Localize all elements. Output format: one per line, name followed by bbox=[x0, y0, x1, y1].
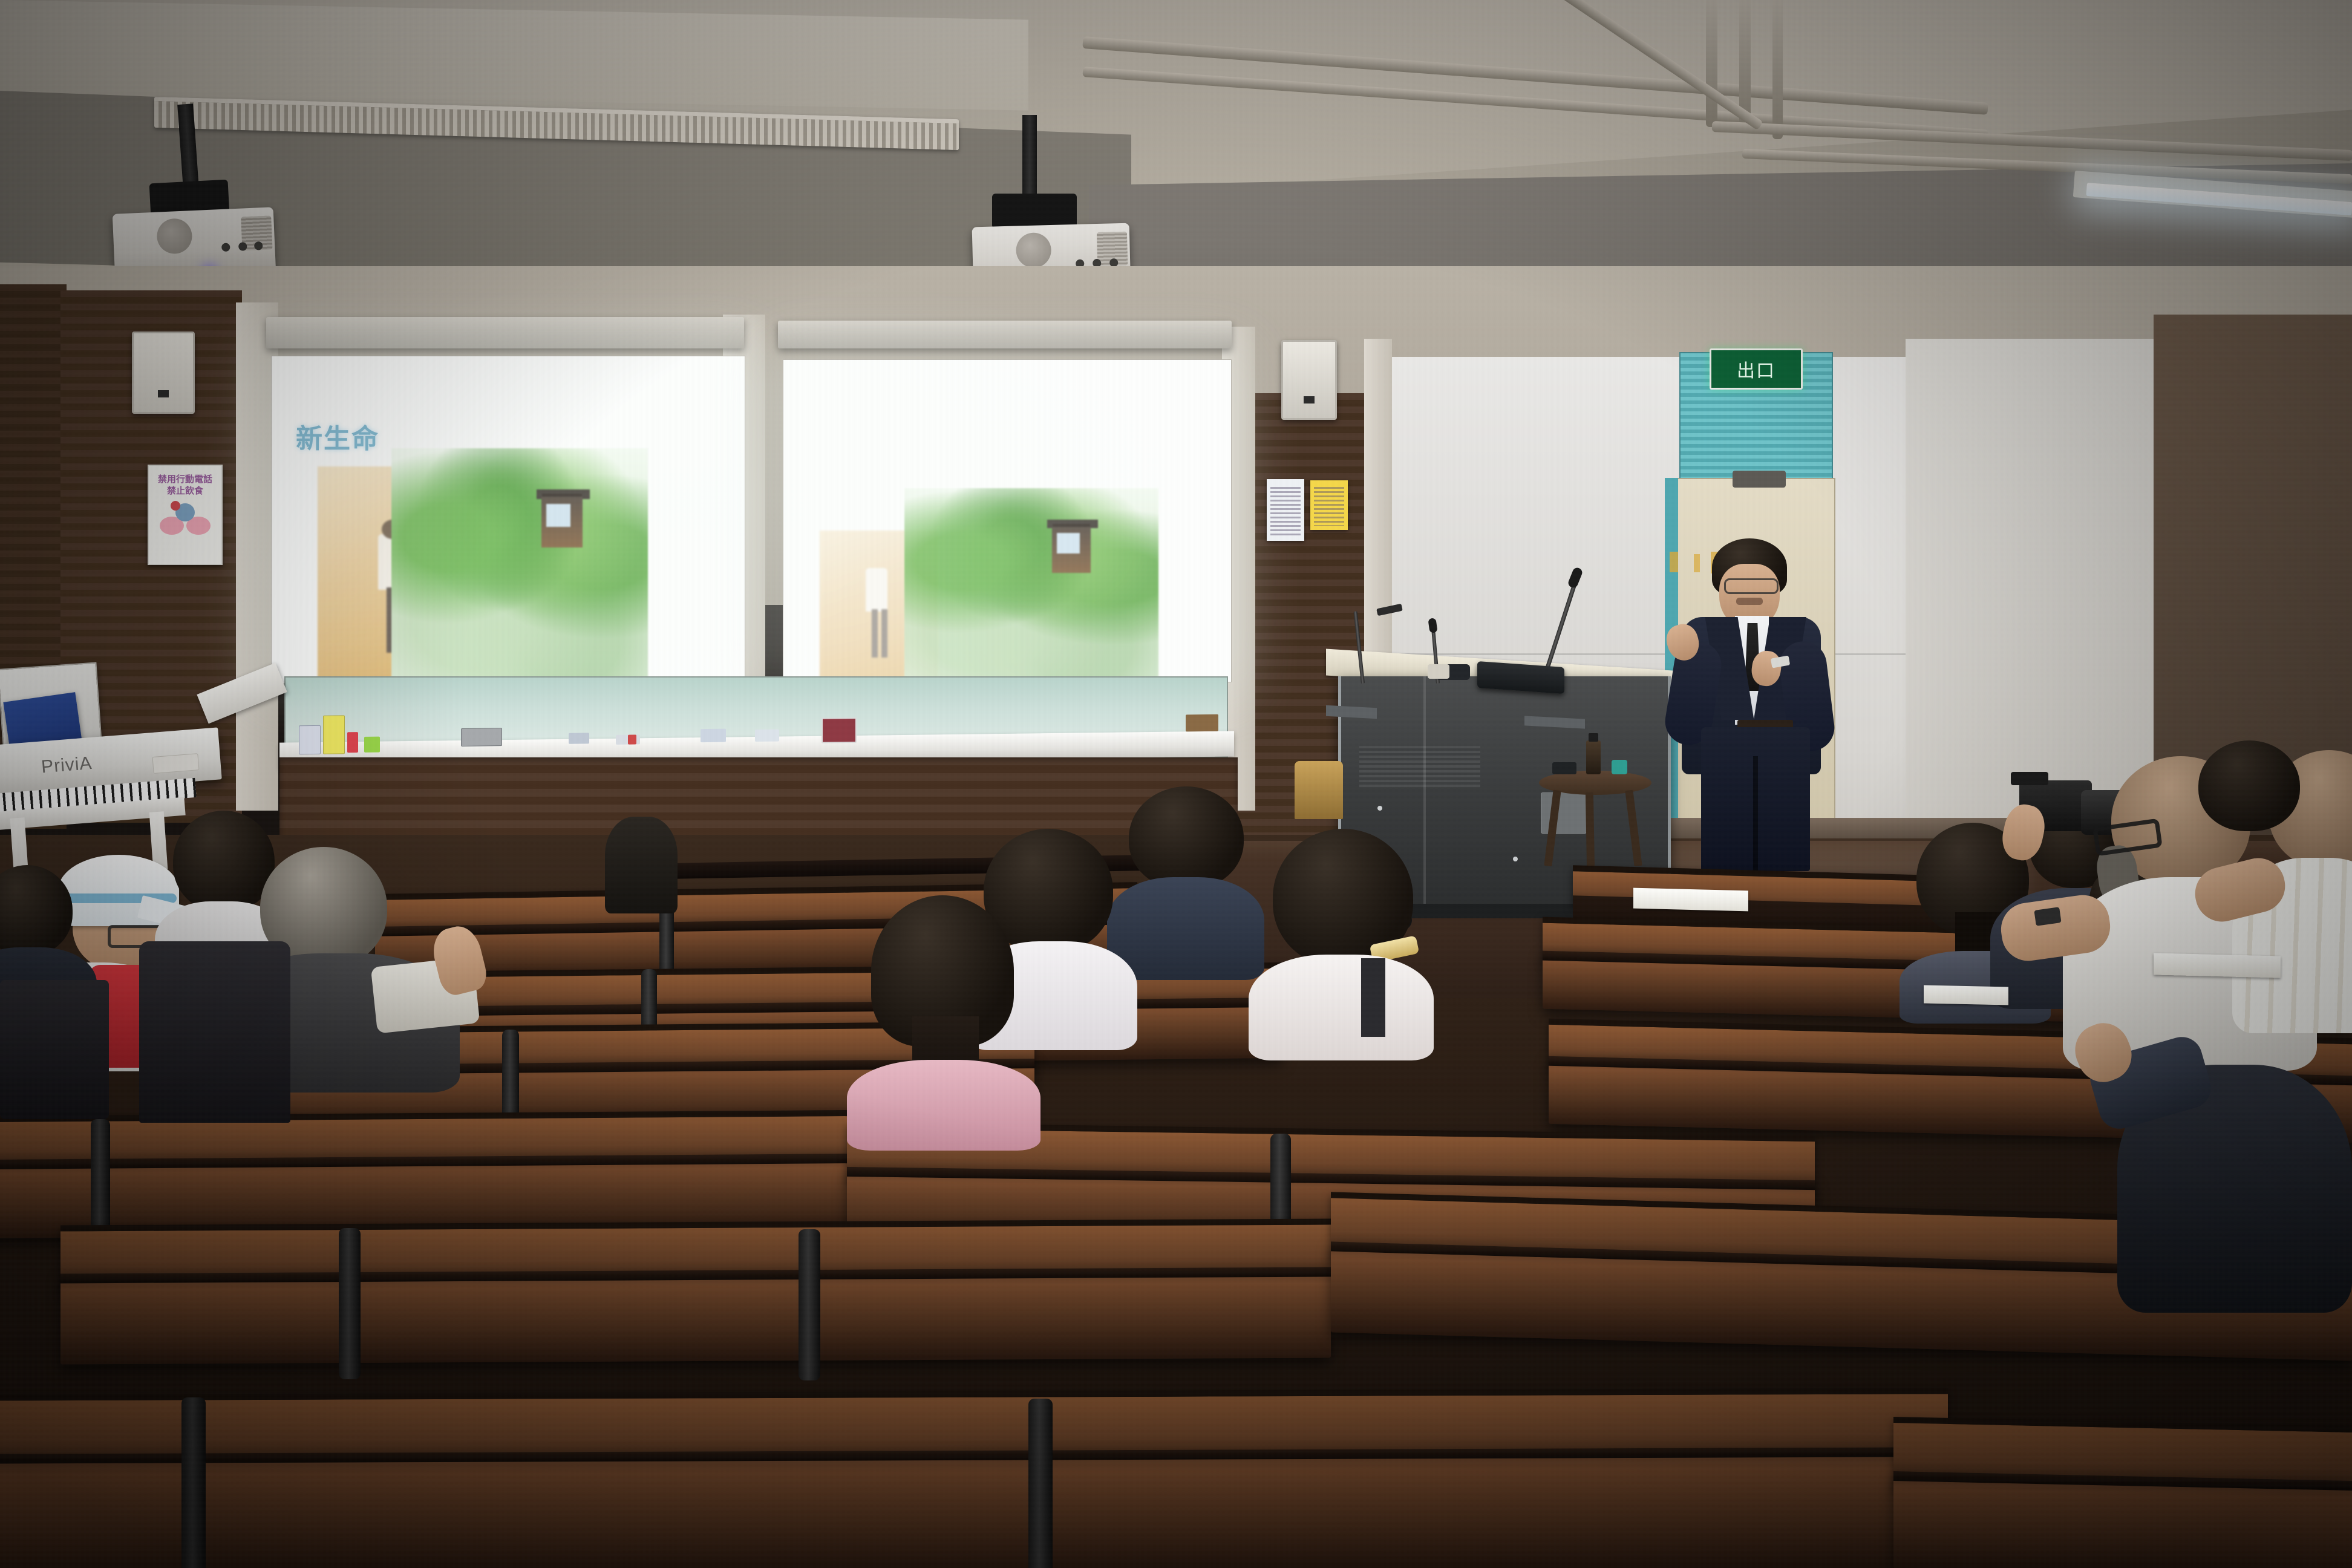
attendee-top bbox=[1249, 955, 1434, 1060]
conduit-pipe-icon bbox=[1706, 0, 1717, 127]
bench-bracket bbox=[339, 1228, 361, 1379]
slide-photo-green-trees bbox=[391, 448, 648, 683]
phone bbox=[1552, 762, 1576, 774]
bench bbox=[0, 1447, 1948, 1568]
attendee-head bbox=[1129, 786, 1244, 889]
marker-box bbox=[323, 715, 345, 754]
slide-title-left: 新生命 bbox=[296, 417, 379, 456]
bench-bracket bbox=[799, 1229, 820, 1380]
water-bottle bbox=[1586, 740, 1601, 774]
attendee-silhouette bbox=[605, 817, 678, 913]
attendee-strap bbox=[1361, 958, 1385, 1037]
no-phone-no-food-sign: 禁用行動電話 禁止飲食 bbox=[148, 465, 223, 565]
camera-hotshoe-icon bbox=[2011, 772, 2048, 785]
desk-item bbox=[1428, 664, 1449, 679]
attendee-silhouette bbox=[139, 941, 290, 1123]
conduit-pipe-icon bbox=[1772, 0, 1783, 139]
red-marker bbox=[347, 732, 358, 753]
attendee-bob-hairclip bbox=[1252, 829, 1440, 1059]
bench-bracket bbox=[1028, 1399, 1053, 1568]
bench bbox=[1893, 1471, 2352, 1568]
attendee-head bbox=[0, 865, 73, 956]
attendee-head bbox=[2198, 740, 2300, 831]
right-projection-screen[interactable] bbox=[783, 359, 1232, 682]
eraser bbox=[755, 730, 779, 742]
wall-speaker bbox=[132, 332, 195, 414]
presenter-mouth bbox=[1736, 598, 1763, 605]
marker-box bbox=[299, 725, 321, 754]
attendee-back-row-right bbox=[2184, 768, 2311, 889]
right-screen-casing bbox=[778, 321, 1232, 348]
glasses-icon bbox=[1724, 578, 1779, 594]
eraser bbox=[701, 729, 726, 743]
red-marker bbox=[628, 734, 636, 744]
teal-cup bbox=[1612, 760, 1627, 774]
yellow-notice bbox=[1310, 480, 1348, 530]
wall-speaker bbox=[1281, 340, 1337, 420]
sign-line-2: 禁止飲食 bbox=[155, 486, 215, 496]
trouser-seam bbox=[1753, 756, 1758, 871]
chair bbox=[1295, 761, 1343, 819]
attendee-top bbox=[847, 1060, 1040, 1151]
attendee-long-hair bbox=[847, 895, 1040, 1149]
exit-sign: 出口 bbox=[1710, 348, 1803, 390]
slide-photo-green-trees bbox=[904, 488, 1158, 682]
attendee-dark-suit-right bbox=[2117, 1028, 2352, 1313]
white-notice bbox=[1267, 479, 1304, 541]
left-screen-casing bbox=[266, 317, 744, 348]
bench bbox=[60, 1267, 1331, 1365]
projector-bracket bbox=[992, 194, 1077, 229]
eraser bbox=[569, 733, 589, 743]
paper-sheet bbox=[2154, 953, 2281, 978]
eraser bbox=[1186, 714, 1218, 732]
lecture-hall-photo: 新生命 bbox=[0, 0, 2352, 1568]
chalk-box bbox=[822, 717, 857, 743]
projector-mount-rod bbox=[1022, 115, 1037, 200]
left-projection-screen[interactable]: 新生命 bbox=[271, 356, 745, 684]
eraser bbox=[461, 728, 502, 746]
presenter bbox=[1645, 538, 1839, 877]
piano-brand-label: PriviA bbox=[41, 753, 93, 778]
bottle-cap bbox=[1589, 733, 1598, 742]
green-marker bbox=[364, 737, 380, 753]
wooden-stool bbox=[1539, 744, 1654, 871]
bench-bracket bbox=[181, 1397, 206, 1568]
attendee-silhouette bbox=[0, 980, 109, 1119]
paper-sheet bbox=[1924, 985, 2008, 1005]
sign-line-1: 禁用行動電話 bbox=[155, 474, 215, 485]
paper-sheet bbox=[1633, 888, 1748, 912]
